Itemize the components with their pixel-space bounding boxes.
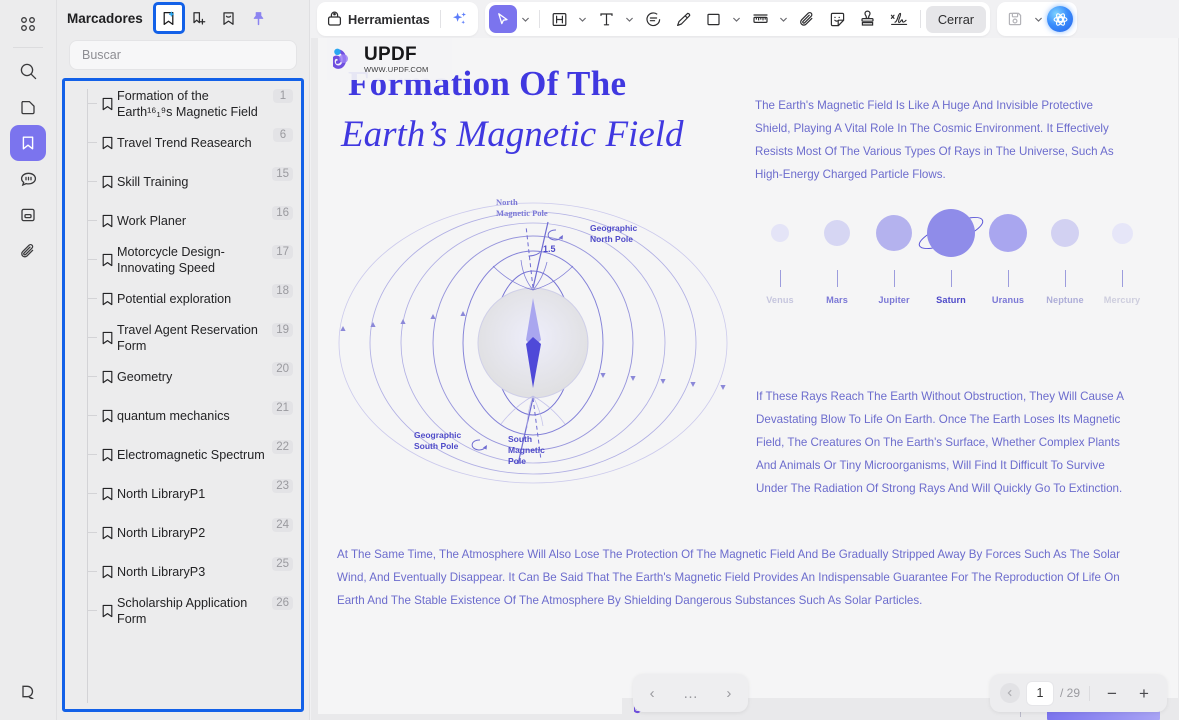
tree-elbow [87, 610, 97, 611]
planet-label: Saturn [936, 295, 966, 305]
bookmark-page-number: 26 [272, 596, 293, 610]
planet-item: Neptune [1039, 203, 1091, 305]
search-input[interactable] [82, 48, 284, 62]
bookmark-icon [97, 448, 117, 462]
sticky-note-icon[interactable] [639, 5, 668, 33]
bookmark-list-item[interactable]: North LibraryP224 [65, 513, 301, 552]
bookmark-page-number: 20 [272, 362, 293, 376]
zoom-in-button[interactable]: + [1131, 680, 1157, 706]
text-icon[interactable] [592, 5, 621, 33]
thumb-more-icon[interactable]: … [677, 680, 703, 706]
highlight-icon[interactable] [545, 5, 574, 33]
label-north-magnetic-1: North [496, 197, 518, 207]
top-toolbar: Herramientas [311, 0, 1179, 38]
planet-label: Neptune [1046, 295, 1083, 305]
thumbnail-navigator: ‹ … › [633, 674, 748, 712]
bookmark-label: Skill Training [117, 174, 272, 190]
planet-orb [1112, 223, 1133, 244]
label-north-magnetic-2: Magnetic Pole [496, 208, 548, 218]
magnetic-field-diagram: North Magnetic Pole Geographic North Pol… [328, 188, 768, 528]
bookmark-list-item[interactable]: Skill Training15 [65, 162, 301, 201]
label-south-magnetic-2: Magnetic [508, 445, 545, 455]
pdf-page: Formation Of The Earth’s Magnetic Field [318, 38, 1178, 714]
paragraph-right-top: The Earth's Magnetic Field Is Like A Hug… [755, 94, 1130, 186]
bookmark-page-number: 23 [272, 479, 293, 493]
page-prev-icon[interactable] [1000, 683, 1020, 703]
select-chevron-down-icon[interactable] [518, 6, 534, 32]
updf-brand: UPDF [364, 45, 428, 64]
bookmark-label: Potential exploration [117, 291, 272, 307]
tree-elbow [87, 181, 97, 182]
bookmark-page-number: 16 [272, 206, 293, 220]
bookmark-label: Electromagnetic Spectrum [117, 447, 272, 463]
label-south-magnetic-3: Pole [508, 456, 526, 466]
planet-tick [951, 270, 952, 287]
bookmark-icon [97, 175, 117, 189]
thumb-prev-icon[interactable]: ‹ [639, 680, 665, 706]
document-viewer[interactable]: Formation Of The Earth’s Magnetic Field [311, 38, 1179, 720]
planet-orb-box [771, 203, 789, 263]
bookmark-page-number: 22 [272, 440, 293, 454]
planet-orb-box [876, 203, 912, 263]
label-geographic-south-1: Geographic [414, 430, 462, 440]
comment-icon[interactable] [10, 161, 46, 197]
zoom-out-button[interactable]: − [1099, 680, 1125, 706]
bookmark-label: Travel Agent Reservation Form [117, 322, 272, 354]
doc-title-line2: Earth’s Magnetic Field [341, 113, 684, 156]
bookmark-icon [97, 214, 117, 228]
measure-chevron-down-icon[interactable] [776, 6, 792, 32]
paragraph-bottom: At The Same Time, The Atmosphere Will Al… [337, 543, 1147, 612]
bookmark-icon [97, 331, 117, 345]
label-south-magnetic-1: South [508, 434, 532, 444]
bookmark-list-item[interactable]: quantum mechanics21 [65, 396, 301, 435]
layers-icon[interactable] [10, 197, 46, 233]
tree-elbow [87, 415, 97, 416]
bookmark-page-number: 19 [272, 323, 293, 337]
bookmark-label: North LibraryP3 [117, 564, 272, 580]
bookmark-label: quantum mechanics [117, 408, 272, 424]
bookmark-icon [97, 370, 117, 384]
bookmark-page-number: 18 [272, 284, 293, 298]
toolbar-group-save [997, 2, 1077, 36]
bookmark-label: Travel Trend Reasearch [117, 135, 273, 151]
label-geographic-north-1: Geographic [590, 223, 638, 233]
bookmark-list-item[interactable]: Electromagnetic Spectrum22 [65, 435, 301, 474]
planet-orb [927, 209, 975, 257]
planet-item: Jupiter [868, 203, 920, 305]
tree-elbow [87, 493, 97, 494]
tools-button[interactable]: Herramientas [321, 5, 435, 33]
bookmark-page-number: 1 [273, 89, 293, 103]
toolbar-group-annotate: Cerrar [485, 2, 990, 36]
planet-orb-box [1051, 203, 1079, 263]
bookmark-list-item[interactable]: Travel Agent Reservation Form19 [65, 318, 301, 357]
thumb-next-icon[interactable]: › [716, 680, 742, 706]
add-bookmark-icon[interactable] [185, 4, 213, 32]
attachment-icon[interactable] [10, 233, 46, 269]
planet-orb [989, 214, 1027, 252]
bookmark-icon [97, 526, 117, 540]
text-chevron-down-icon[interactable] [622, 6, 638, 32]
bookmark-page-number: 6 [273, 128, 293, 142]
planet-orb [1051, 219, 1079, 247]
tree-elbow [87, 454, 97, 455]
page-title: Marcadores [67, 11, 143, 26]
apps-grid-icon[interactable] [10, 6, 46, 42]
bookmark-page-number: 17 [272, 245, 293, 259]
tree-elbow [87, 259, 97, 260]
close-button[interactable]: Cerrar [926, 6, 986, 33]
planet-tick [894, 270, 895, 287]
tree-elbow [87, 103, 97, 104]
tree-elbow [87, 142, 97, 143]
bookmark-label: Work Planer [117, 213, 272, 229]
updf-window: Marcadores ••• [0, 0, 1179, 720]
planet-tick [780, 270, 781, 287]
tree-elbow [87, 532, 97, 533]
bookmark-icon [97, 97, 117, 111]
page-total-label: / 29 [1060, 686, 1080, 700]
bookmarks-panel-header: Marcadores ••• [57, 0, 309, 36]
bookmark-icon [97, 487, 117, 501]
bookmark-list-item[interactable]: Work Planer16 [65, 201, 301, 240]
select-cursor-icon[interactable] [489, 5, 517, 33]
planet-orb [771, 224, 789, 242]
planet-orb [824, 220, 850, 246]
label-geographic-south-2: South Pole [414, 441, 459, 451]
planet-item: Mars [811, 203, 863, 305]
bookmark-icon [97, 565, 117, 579]
measure-icon[interactable] [746, 5, 775, 33]
bookmark-label: North LibraryP1 [117, 486, 272, 502]
theme-icon[interactable] [10, 674, 46, 710]
bookmark-page-number: 25 [272, 557, 293, 571]
shape-chevron-down-icon[interactable] [729, 6, 745, 32]
planet-label: Uranus [992, 295, 1024, 305]
tree-elbow [87, 220, 97, 221]
bookmark-icon [97, 253, 117, 267]
pen-icon[interactable] [669, 5, 698, 33]
toolbar-divider-2 [539, 10, 540, 28]
signature-icon[interactable] [883, 5, 915, 33]
planet-label: Mercury [1104, 295, 1140, 305]
label-geographic-north-2: North Pole [590, 234, 633, 244]
planet-orb [876, 215, 912, 251]
sidebar-item-bookmarks[interactable] [10, 125, 46, 161]
bookmark-label: North LibraryP2 [117, 525, 272, 541]
planet-item: Mercury [1096, 203, 1148, 305]
planet-orb-box [824, 203, 850, 263]
planet-orb-box [989, 203, 1027, 263]
edit-bookmark-icon[interactable] [215, 4, 243, 32]
planet-tick [837, 270, 838, 287]
bookmark-icon [97, 136, 117, 150]
bookmark-page-number: 24 [272, 518, 293, 532]
bookmark-icon [97, 604, 117, 618]
planet-tick [1122, 270, 1123, 287]
search-container [57, 36, 309, 78]
ai-sparkle-icon[interactable] [446, 5, 474, 33]
updf-watermark: UPDF WWW.UPDF.COM [327, 38, 452, 80]
tools-label: Herramientas [348, 12, 430, 27]
add-bookmark-from-selection-icon[interactable]: ••• [155, 4, 183, 32]
planet-item: Saturn [925, 203, 977, 305]
bookmark-tools: ••• [155, 4, 273, 32]
bookmark-list-item[interactable]: North LibraryP123 [65, 474, 301, 513]
left-icon-rail [0, 0, 57, 720]
bookmark-label: Scholarship Application Form [117, 595, 272, 627]
rail-divider [13, 47, 43, 48]
planet-size-chart: VenusMarsJupiterSaturnUranusNeptuneMercu… [754, 203, 1148, 353]
bookmark-list-item[interactable]: Travel Trend Reasearch6 [65, 123, 301, 162]
planet-item: Uranus [982, 203, 1034, 305]
tree-elbow [87, 298, 97, 299]
updf-url: WWW.UPDF.COM [364, 66, 428, 74]
bookmark-list-item[interactable]: North LibraryP325 [65, 552, 301, 591]
sticker-icon[interactable] [823, 5, 852, 33]
save-icon[interactable] [1001, 5, 1029, 33]
bookmark-list-highlight-frame: Formation of the Earth¹⁶₁⁹s Magnetic Fie… [62, 78, 304, 712]
bookmark-label: Motorcycle Design-Innovating Speed [117, 244, 272, 276]
updf-logo-icon [333, 45, 359, 73]
planet-orb-box [927, 203, 975, 263]
page-number-input[interactable] [1026, 681, 1054, 706]
page-thumbnails-icon[interactable] [10, 89, 46, 125]
page-navigation-bar: / 29 − + [990, 674, 1167, 712]
bookmarks-panel: Marcadores ••• [57, 0, 310, 720]
tree-elbow [87, 376, 97, 377]
toolbar-divider [440, 10, 441, 28]
tree-elbow [87, 337, 97, 338]
paragraph-right-bottom: If These Rays Reach The Earth Without Ob… [756, 385, 1128, 500]
bookmark-list[interactable]: Formation of the Earth¹⁶₁⁹s Magnetic Fie… [65, 81, 301, 709]
bookmark-label: Geometry [117, 369, 272, 385]
ai-assistant-icon[interactable] [1047, 6, 1073, 32]
bookmark-page-number: 15 [272, 167, 293, 181]
bookmark-list-item[interactable]: Scholarship Application Form26 [65, 591, 301, 630]
planet-label: Mars [826, 295, 848, 305]
search-box[interactable] [69, 40, 297, 70]
bookmark-list-item[interactable]: Motorcycle Design-Innovating Speed17 [65, 240, 301, 279]
bookmark-list-item[interactable]: Geometry20 [65, 357, 301, 396]
pin-icon[interactable] [245, 4, 273, 32]
bookmark-icon [97, 409, 117, 423]
save-chevron-down-icon[interactable] [1030, 6, 1046, 32]
bookmark-list-item[interactable]: Potential exploration18 [65, 279, 301, 318]
pagebar-divider [1089, 686, 1090, 701]
label-tilt-angle: 1.5 [543, 244, 556, 254]
bookmark-list-item[interactable]: Formation of the Earth¹⁶₁⁹s Magnetic Fie… [65, 84, 301, 123]
bookmark-label: Formation of the Earth¹⁶₁⁹s Magnetic Fie… [117, 88, 273, 120]
tools-panel-icon [326, 11, 343, 28]
toolbar-group-tools: Herramientas [317, 2, 478, 36]
planet-label: Venus [766, 295, 794, 305]
planet-orb-box [1112, 203, 1133, 263]
updf-watermark-text: UPDF WWW.UPDF.COM [364, 45, 428, 74]
tree-elbow [87, 571, 97, 572]
search-icon[interactable] [10, 53, 46, 89]
highlight-chevron-down-icon[interactable] [575, 6, 591, 32]
planet-tick [1008, 270, 1009, 287]
shape-icon[interactable] [699, 5, 728, 33]
toolbar-divider-3 [920, 10, 921, 28]
attachment-icon[interactable] [793, 5, 822, 33]
planet-item: Venus [754, 203, 806, 305]
bookmark-icon [97, 292, 117, 306]
bookmark-page-number: 21 [272, 401, 293, 415]
planet-tick [1065, 270, 1066, 287]
stamp-icon[interactable] [853, 5, 882, 33]
planet-label: Jupiter [878, 295, 909, 305]
